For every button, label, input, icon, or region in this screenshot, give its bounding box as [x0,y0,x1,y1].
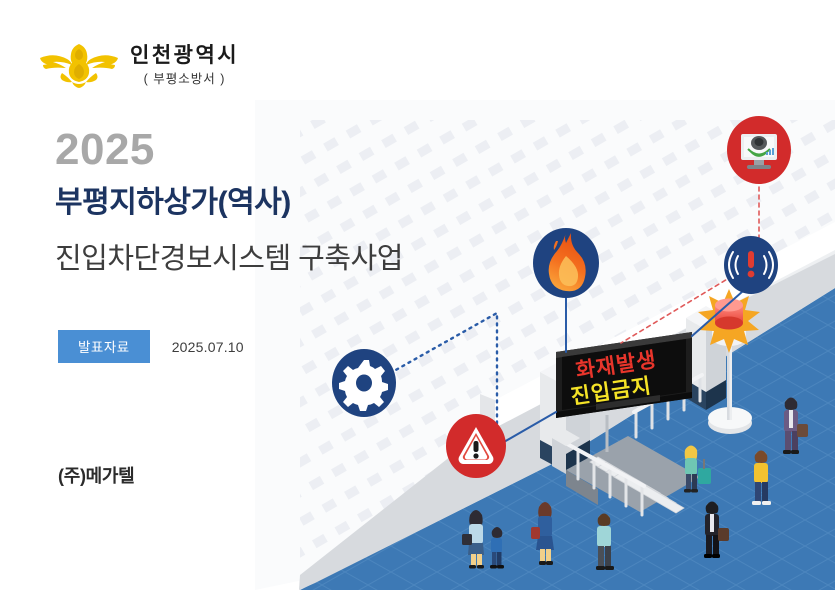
node-flame [533,228,599,298]
organization-logo: 인천광역시 ( 부평소방서 ) [38,40,239,88]
cover-title-line1: 부평지하상가(역사) [55,186,291,219]
cover-year: 2025 [55,128,155,172]
node-alarm-siren [724,236,778,294]
organization-name: 인천광역시 [130,45,239,66]
node-gear [332,349,396,417]
node-warning-triangle [446,414,506,478]
company-name: (주)메가텔 [58,462,134,488]
presentation-cover-slide: 화재발생 진입금지 [0,0,835,590]
document-type-badge: 발표자료 [58,330,150,363]
cover-title-line2: 진입차단경보시스템 구축사업 [55,244,403,276]
node-cctv-monitor [727,116,791,184]
presentation-date: 2025.07.10 [172,339,244,355]
organization-sub: ( 부평소방서 ) [144,73,226,86]
cover-meta-row: 발표자료 2025.07.10 [58,330,244,363]
fire-service-eagle-emblem-icon [38,40,120,88]
cover-illustration: 화재발생 진입금지 [0,0,835,590]
